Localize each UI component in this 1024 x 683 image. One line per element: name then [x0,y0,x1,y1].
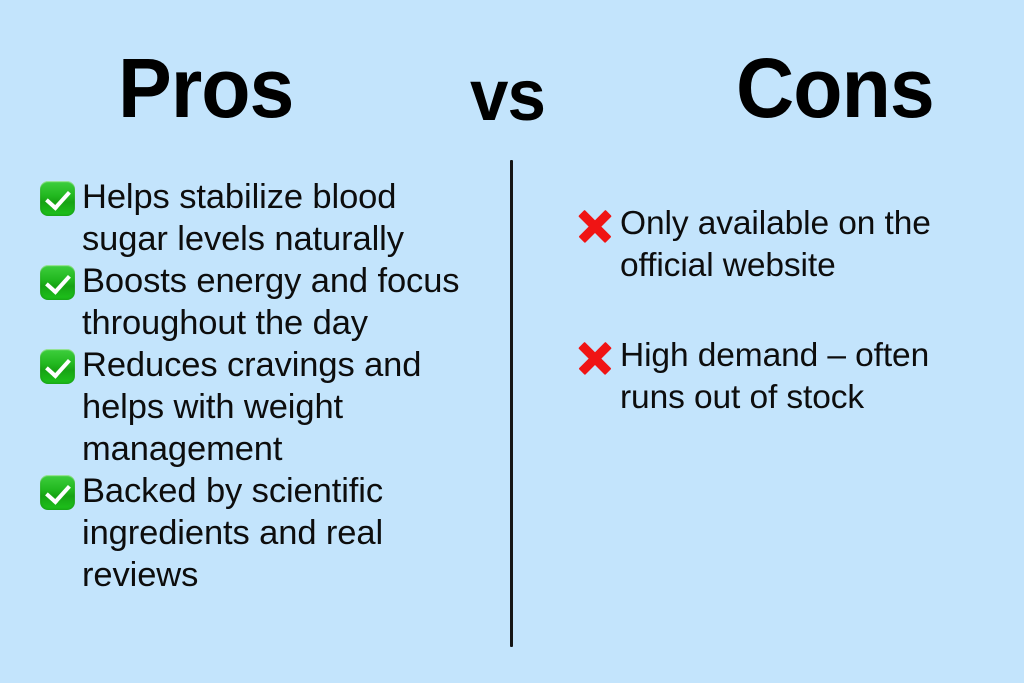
pros-item-text: Backed by scientific ingredients and rea… [82,470,488,596]
cons-list-item: Only available on the official website [578,203,978,287]
pros-item-text: Reduces cravings and helps with weight m… [82,344,488,470]
cross-mark-icon [578,203,620,243]
white-check-mark-icon [40,344,82,384]
white-check-mark-icon [40,176,82,216]
pros-item-text: Helps stabilize blood sugar levels natur… [82,176,488,260]
white-check-mark-icon [40,470,82,510]
pros-vs-cons-infographic: Pros vs Cons Helps stabilize blood sugar… [0,0,1024,683]
pros-column: Helps stabilize blood sugar levels natur… [40,176,488,596]
cross-mark-icon [578,335,620,375]
white-check-mark-icon [40,260,82,300]
cons-item-text: High demand – often runs out of stock [620,335,978,419]
header-row: Pros vs Cons [0,46,1024,136]
pros-list-item: Reduces cravings and helps with weight m… [40,344,488,470]
pros-list-item: Helps stabilize blood sugar levels natur… [40,176,488,260]
vs-heading: vs [470,60,545,132]
cons-heading: Cons [736,46,934,130]
cons-list-item: High demand – often runs out of stock [578,335,978,419]
pros-list-item: Boosts energy and focus throughout the d… [40,260,488,344]
pros-list-item: Backed by scientific ingredients and rea… [40,470,488,596]
cons-item-text: Only available on the official website [620,203,978,287]
cons-column: Only available on the official website H… [578,203,978,467]
pros-heading: Pros [118,46,293,130]
pros-item-text: Boosts energy and focus throughout the d… [82,260,488,344]
column-divider [510,160,513,647]
